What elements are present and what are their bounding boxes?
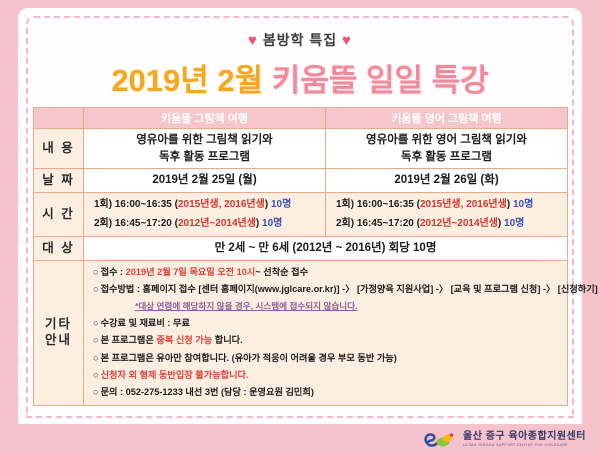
note1-post: ~ 선착순 접수 [255, 267, 308, 277]
time-b-s1-capacity: 10명 [513, 199, 533, 210]
time-a-s2-pre: 2회) 16:45~17:20 ( [94, 218, 178, 229]
content-b-line1: 영유아를 위한 영어 그림책 읽기와 [330, 132, 563, 149]
heart-icon-right: ♥ [342, 32, 352, 49]
note-warning-age: *대상 연령에 해당하지 않을 경우, 시스템에 접수되지 않습니다. [93, 300, 561, 313]
title-date-part: 2019년 2월 [111, 63, 263, 98]
note-item-fee: ○수강료 및 재료비 : 무료 [93, 317, 561, 331]
time-a-s1-capacity: 10명 [271, 199, 291, 210]
target-cell-merged: 만 2세 ~ 만 6세 (2012년 ~ 2016년) 회당 10명 [84, 237, 568, 261]
row-label-content: 내 용 [34, 129, 84, 169]
header-program-a: 키움뜰 그림책 여행 [84, 108, 326, 129]
note1-datetime: 2019년 2월 7일 목요일 오전 10시 [126, 267, 256, 277]
time-a-s2-capacity: 10명 [262, 218, 282, 229]
org-name-english: ULSAN JUNGGU SUPPORT CENTER FOR CHILDCAR… [463, 444, 586, 448]
poster-root: ♥ 봄방학 특집 ♥ 2019년 2월 키움뜰 일일 특강 키움뜰 그림책 여행… [0, 0, 600, 454]
content-cell-b: 영유아를 위한 영어 그림책 읽기와 독후 활동 프로그램 [326, 129, 568, 169]
time-a-s1-birthyear: 2015년생, 2016년생 [178, 199, 265, 210]
note6-text: 신청자 외 형제 동반입장 불가능합니다. [101, 370, 249, 380]
time-b-s2-pre: 2회) 16:45~17:20 ( [336, 218, 420, 229]
note-item-sibling: ○신청자 외 형제 동반입장 불가능합니다. [93, 369, 561, 383]
table-row-date: 날 짜 2019년 2월 25일 (월) 2019년 2월 26일 (화) [34, 169, 568, 193]
time-cell-b: 1회) 16:00~16:35 (2015년생, 2016년생) 10명 2회)… [326, 193, 568, 237]
notes-label-line1: 기타 [38, 317, 79, 333]
bullet-icon: ○ [93, 370, 99, 380]
logo-text-block: 울산 중구 육아종합지원센터 ULSAN JUNGGU SUPPORT CENT… [463, 432, 586, 448]
table-row-time: 시 간 1회) 16:00~16:35 (2015년생, 2016년생) 10명… [34, 193, 568, 237]
subtitle-text: 봄방학 특집 [263, 32, 337, 48]
time-a-session2: 2회) 16:45~17:20 (2012년~2014년생) 10명 [94, 215, 321, 234]
bullet-icon: ○ [93, 335, 99, 345]
row-label-target: 대 상 [34, 237, 84, 261]
note-item-how-to-apply: ○접수방법 : 홈페이지 접수 [센터 홈페이지(www.jglcare.or.… [93, 283, 561, 297]
header-blank-cell [34, 108, 84, 129]
bullet-icon: ○ [93, 318, 99, 328]
poster-subtitle: ♥ 봄방학 특집 ♥ [0, 30, 600, 50]
note3-text: 수강료 및 재료비 : 무료 [101, 318, 190, 328]
note5-text: 본 프로그램은 유아만 참여합니다. (유아가 적응이 어려울 경우 부모 동반… [101, 353, 397, 363]
note-item-contact: ○문의 : 052-275-1233 내선 3번 (담당 : 운영요원 김민희) [93, 386, 561, 400]
row-label-notes: 기타 안내 [34, 260, 84, 405]
note2-text: 접수방법 : 홈페이지 접수 [센터 홈페이지(www.jglcare.or.k… [101, 284, 598, 294]
bullet-icon: ○ [93, 387, 99, 397]
note7-text: 문의 : 052-275-1233 내선 3번 (담당 : 운영요원 김민희) [101, 387, 314, 397]
note1-pre: 접수 : [101, 267, 126, 277]
center-logo-icon [423, 430, 457, 450]
time-b-session1: 1회) 16:00~16:35 (2015년생, 2016년생) 10명 [336, 196, 563, 215]
time-a-session1: 1회) 16:00~16:35 (2015년생, 2016년생) 10명 [94, 196, 321, 215]
note-item-registration: ○접수 : 2019년 2월 7일 목요일 오전 10시~ 선착순 접수 [93, 266, 561, 280]
organization-logo: 울산 중구 육아종합지원센터 ULSAN JUNGGU SUPPORT CENT… [423, 430, 586, 450]
row-label-date: 날 짜 [34, 169, 84, 193]
content-b-line2: 독후 활동 프로그램 [330, 149, 563, 166]
content-a-line2: 독후 활동 프로그램 [88, 149, 321, 166]
date-cell-a: 2019년 2월 25일 (월) [84, 169, 326, 193]
date-cell-b: 2019년 2월 26일 (화) [326, 169, 568, 193]
time-b-s2-capacity: 10명 [504, 218, 524, 229]
time-b-s1-birthyear: 2015년생, 2016년생 [420, 199, 507, 210]
table-row-target: 대 상 만 2세 ~ 만 6세 (2012년 ~ 2016년) 회당 10명 [34, 237, 568, 261]
time-a-s2-birthyear: 2012년~2014년생 [178, 218, 256, 229]
notes-label-line2: 안내 [38, 333, 79, 349]
note-item-participation: ○본 프로그램은 유아만 참여합니다. (유아가 적응이 어려울 경우 부모 동… [93, 352, 561, 366]
content-cell-a: 영유아를 위한 그림책 읽기와 독후 활동 프로그램 [84, 129, 326, 169]
heart-icon-left: ♥ [248, 32, 258, 49]
time-b-session2: 2회) 16:45~17:20 (2012년~2014년생) 10명 [336, 215, 563, 234]
table-row-notes: 기타 안내 ○접수 : 2019년 2월 7일 목요일 오전 10시~ 선착순 … [34, 260, 568, 405]
row-label-time: 시 간 [34, 193, 84, 237]
org-name-korean: 울산 중구 육아종합지원센터 [463, 432, 586, 442]
note4-pre: 본 프로그램은 [101, 335, 157, 345]
bullet-icon: ○ [93, 284, 99, 294]
note4-post: 합니다. [212, 335, 242, 345]
note-item-duplicate: ○본 프로그램은 중복 신청 가능 합니다. [93, 334, 561, 348]
program-table: 키움뜰 그림책 여행 키움뜰 영어 그림책 여행 내 용 영유아를 위한 그림책… [33, 107, 568, 406]
notes-cell: ○접수 : 2019년 2월 7일 목요일 오전 10시~ 선착순 접수 ○접수… [84, 260, 568, 405]
time-cell-a: 1회) 16:00~16:35 (2015년생, 2016년생) 10명 2회)… [84, 193, 326, 237]
title-program-part: 키움뜰 일일 특강 [272, 63, 489, 98]
bullet-icon: ○ [93, 267, 99, 277]
table-header-row: 키움뜰 그림책 여행 키움뜰 영어 그림책 여행 [34, 108, 568, 129]
content-a-line1: 영유아를 위한 그림책 읽기와 [88, 132, 321, 149]
time-a-s1-pre: 1회) 16:00~16:35 ( [94, 199, 178, 210]
bullet-icon: ○ [93, 353, 99, 363]
header-program-b: 키움뜰 영어 그림책 여행 [326, 108, 568, 129]
time-b-s2-birthyear: 2012년~2014년생 [420, 218, 498, 229]
table-row-content: 내 용 영유아를 위한 그림책 읽기와 독후 활동 프로그램 영유아를 위한 영… [34, 129, 568, 169]
poster-title: 2019년 2월 키움뜰 일일 특강 [0, 55, 600, 100]
footer-bar: 울산 중구 육아종합지원센터 ULSAN JUNGGU SUPPORT CENT… [0, 424, 600, 454]
time-b-s1-pre: 1회) 16:00~16:35 ( [336, 199, 420, 210]
note4-highlight: 중복 신청 가능 [156, 335, 212, 345]
